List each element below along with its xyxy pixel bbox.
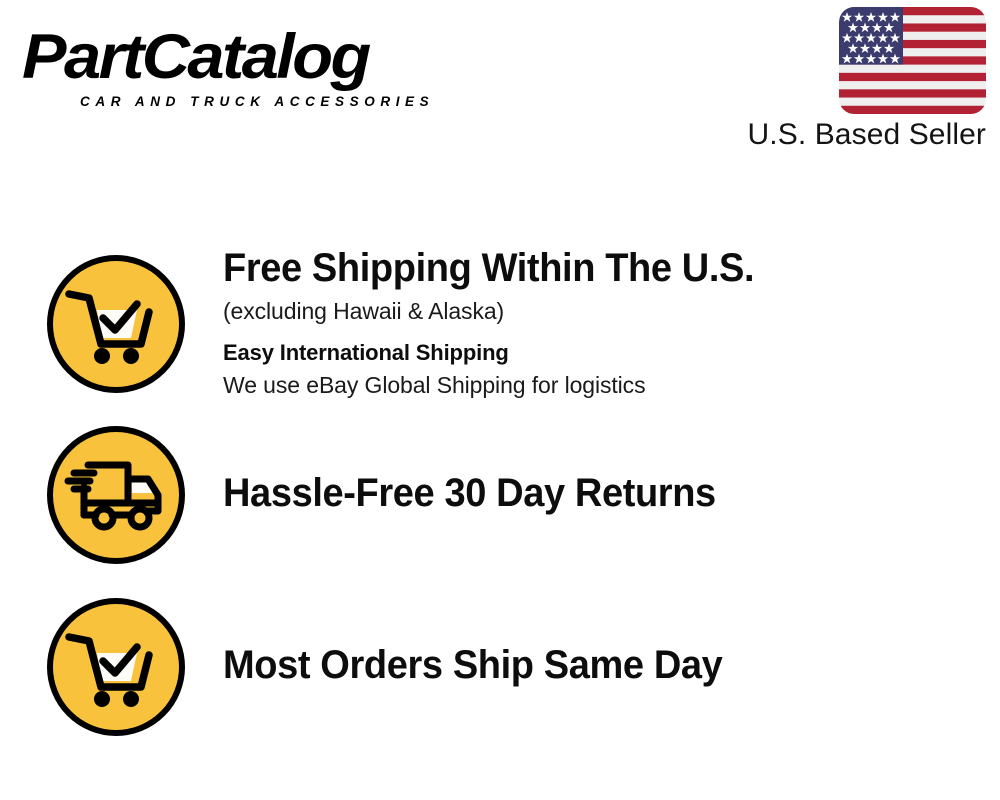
cart-check-icon [44, 252, 188, 396]
feature-subline-exclusion: (excluding Hawaii & Alaska) [223, 295, 504, 327]
brand-wordmark: PartCatalog [22, 22, 520, 92]
cart-check-icon [44, 595, 188, 739]
promo-banner: PartCatalog CAR AND TRUCK ACCESSORIES [0, 0, 1000, 800]
brand-tagline: CAR AND TRUCK ACCESSORIES [80, 94, 434, 109]
feature-subline-international-title: Easy International Shipping [223, 337, 509, 369]
brand-logo[interactable]: PartCatalog CAR AND TRUCK ACCESSORIES [22, 22, 492, 114]
feature-headline: Hassle-Free 30 Day Returns [223, 470, 716, 516]
feature-headline: Most Orders Ship Same Day [223, 642, 722, 688]
feature-headline: Free Shipping Within The U.S. [223, 245, 754, 291]
us-based-seller-label: U.S. Based Seller [748, 117, 986, 153]
us-flag-icon [839, 7, 986, 114]
delivery-truck-icon [44, 423, 188, 567]
feature-subline-international-detail: We use eBay Global Shipping for logistic… [223, 369, 645, 401]
